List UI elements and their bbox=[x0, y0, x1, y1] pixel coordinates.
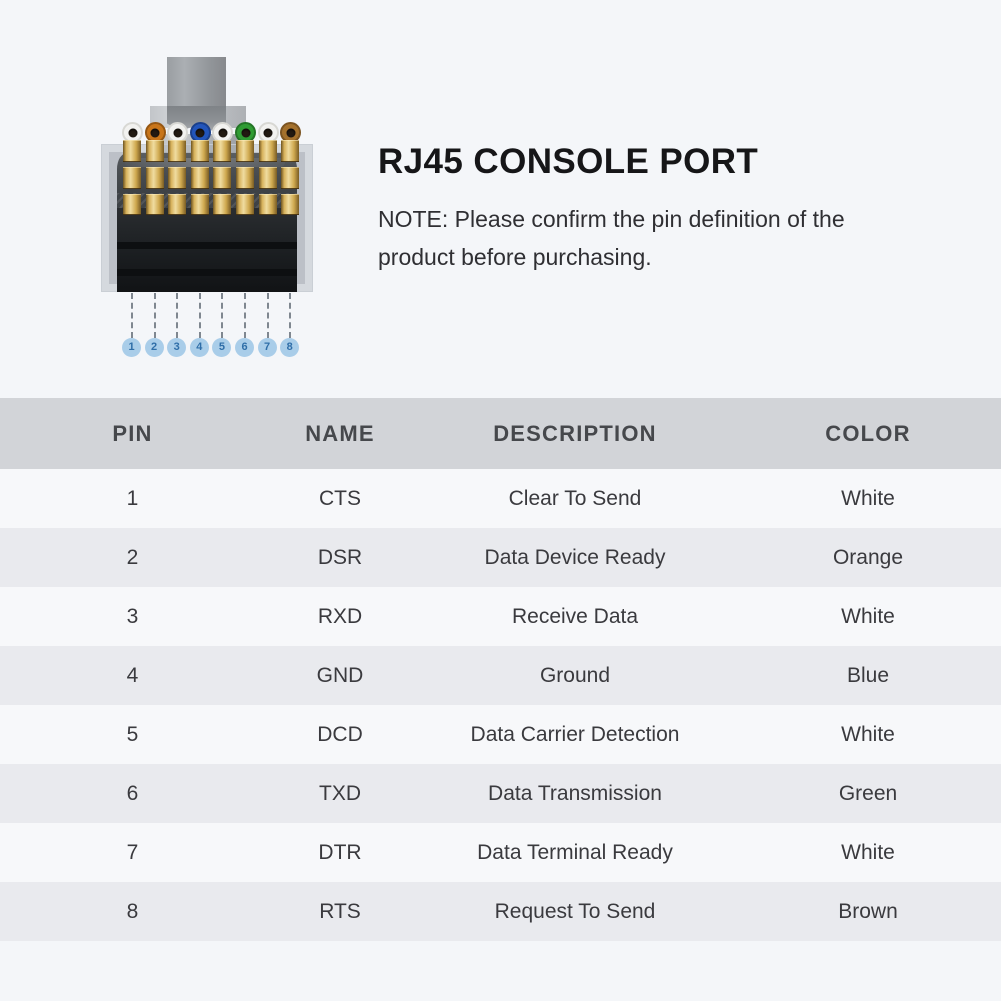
rj45-connector-illustration: 12345678 bbox=[95, 50, 320, 370]
contact-divider-bar-1 bbox=[117, 242, 297, 249]
color-cell: White bbox=[735, 705, 1001, 764]
name-cell: DCD bbox=[265, 705, 415, 764]
contact-divider-bar-2 bbox=[117, 269, 297, 276]
name-cell: TXD bbox=[265, 764, 415, 823]
pin-segment bbox=[191, 140, 209, 162]
description-cell: Data Device Ready bbox=[415, 528, 735, 587]
description-cell: Data Terminal Ready bbox=[415, 823, 735, 882]
pin-cell: 5 bbox=[0, 705, 265, 764]
table-row: 3RXDReceive DataWhite bbox=[0, 587, 1001, 646]
column-header-pin: PIN bbox=[0, 398, 265, 469]
pin-segment bbox=[146, 167, 164, 189]
color-cell: Brown bbox=[735, 882, 1001, 941]
color-cell: Green bbox=[735, 764, 1001, 823]
pin-number-badge-4: 4 bbox=[190, 338, 209, 357]
wire-core-icon bbox=[173, 128, 182, 137]
table-body: 1CTSClear To SendWhite2DSRData Device Re… bbox=[0, 469, 1001, 941]
pin-segment bbox=[259, 194, 277, 215]
pin-segment bbox=[168, 167, 186, 189]
color-cell: White bbox=[735, 469, 1001, 528]
page-title: RJ45 CONSOLE PORT bbox=[378, 140, 938, 184]
name-cell: GND bbox=[265, 646, 415, 705]
pin-segment bbox=[168, 140, 186, 162]
contact-bed bbox=[117, 208, 297, 292]
pin-segment bbox=[146, 194, 164, 215]
pin-segment bbox=[236, 167, 254, 189]
gold-contact-pin-3 bbox=[168, 140, 186, 215]
table-row: 1CTSClear To SendWhite bbox=[0, 469, 1001, 528]
gold-contact-pin-6 bbox=[236, 140, 254, 215]
wire-core-icon bbox=[286, 128, 295, 137]
pin-segment bbox=[123, 194, 141, 215]
pin-definition-table: PIN NAME DESCRIPTION COLOR 1CTSClear To … bbox=[0, 398, 1001, 941]
gold-contact-pin-5 bbox=[213, 140, 231, 215]
pin-number-badge-3: 3 bbox=[167, 338, 186, 357]
pin-segment bbox=[123, 140, 141, 162]
wire-core-icon bbox=[264, 128, 273, 137]
leader-line-pin-1 bbox=[131, 293, 133, 338]
description-cell: Request To Send bbox=[415, 882, 735, 941]
table-row: 2DSRData Device ReadyOrange bbox=[0, 528, 1001, 587]
table-row: 5DCDData Carrier DetectionWhite bbox=[0, 705, 1001, 764]
pin-segment bbox=[259, 140, 277, 162]
table-row: 7DTRData Terminal ReadyWhite bbox=[0, 823, 1001, 882]
wire-core-icon bbox=[151, 128, 160, 137]
description-cell: Receive Data bbox=[415, 587, 735, 646]
pin-number-badge-2: 2 bbox=[145, 338, 164, 357]
pin-segment bbox=[281, 140, 299, 162]
description-cell: Data Carrier Detection bbox=[415, 705, 735, 764]
gold-contact-pin-4 bbox=[191, 140, 209, 215]
pin-segment bbox=[168, 194, 186, 215]
leader-line-pin-5 bbox=[221, 293, 223, 338]
wire-core-icon bbox=[128, 128, 137, 137]
description-cell: Data Transmission bbox=[415, 764, 735, 823]
leader-line-pin-3 bbox=[176, 293, 178, 338]
wire-core-icon bbox=[241, 128, 250, 137]
table-header-row: PIN NAME DESCRIPTION COLOR bbox=[0, 398, 1001, 469]
table-header: PIN NAME DESCRIPTION COLOR bbox=[0, 398, 1001, 469]
pin-segment bbox=[281, 167, 299, 189]
wire-core-icon bbox=[196, 128, 205, 137]
pin-segment bbox=[236, 194, 254, 215]
pin-cell: 8 bbox=[0, 882, 265, 941]
name-cell: DTR bbox=[265, 823, 415, 882]
pin-cell: 7 bbox=[0, 823, 265, 882]
leader-line-pin-8 bbox=[289, 293, 291, 338]
name-cell: DSR bbox=[265, 528, 415, 587]
leader-line-pin-4 bbox=[199, 293, 201, 338]
page-note: NOTE: Please confirm the pin definition … bbox=[378, 200, 878, 276]
name-cell: CTS bbox=[265, 469, 415, 528]
header-section: 12345678 RJ45 CONSOLE PORT NOTE: Please … bbox=[0, 0, 1001, 392]
pin-number-badge-8: 8 bbox=[280, 338, 299, 357]
table-row: 6TXDData TransmissionGreen bbox=[0, 764, 1001, 823]
cable-boot-top bbox=[167, 57, 226, 109]
pin-number-badge-1: 1 bbox=[122, 338, 141, 357]
color-cell: Blue bbox=[735, 646, 1001, 705]
column-header-name: NAME bbox=[265, 398, 415, 469]
pin-number-badge-7: 7 bbox=[258, 338, 277, 357]
column-header-color: COLOR bbox=[735, 398, 1001, 469]
pin-segment bbox=[213, 194, 231, 215]
pin-cell: 4 bbox=[0, 646, 265, 705]
pin-segment bbox=[213, 140, 231, 162]
pin-segment bbox=[146, 140, 164, 162]
gold-contact-pin-2 bbox=[146, 140, 164, 215]
pin-cell: 3 bbox=[0, 587, 265, 646]
description-cell: Ground bbox=[415, 646, 735, 705]
pin-cell: 2 bbox=[0, 528, 265, 587]
color-cell: White bbox=[735, 587, 1001, 646]
name-cell: RXD bbox=[265, 587, 415, 646]
pin-cell: 1 bbox=[0, 469, 265, 528]
pin-segment bbox=[259, 167, 277, 189]
color-cell: Orange bbox=[735, 528, 1001, 587]
table-row: 4GNDGroundBlue bbox=[0, 646, 1001, 705]
pin-segment bbox=[236, 140, 254, 162]
leader-line-pin-7 bbox=[267, 293, 269, 338]
title-block: RJ45 CONSOLE PORT NOTE: Please confirm t… bbox=[378, 140, 938, 276]
color-cell: White bbox=[735, 823, 1001, 882]
pin-segment bbox=[281, 194, 299, 215]
pin-number-badge-6: 6 bbox=[235, 338, 254, 357]
column-header-description: DESCRIPTION bbox=[415, 398, 735, 469]
gold-contact-pin-7 bbox=[259, 140, 277, 215]
name-cell: RTS bbox=[265, 882, 415, 941]
gold-contact-pin-1 bbox=[123, 140, 141, 215]
pin-segment bbox=[191, 167, 209, 189]
pin-segment bbox=[213, 167, 231, 189]
pin-cell: 6 bbox=[0, 764, 265, 823]
wire-core-icon bbox=[218, 128, 227, 137]
gold-contact-pin-8 bbox=[281, 140, 299, 215]
leader-line-pin-2 bbox=[154, 293, 156, 338]
pin-segment bbox=[191, 194, 209, 215]
table-row: 8RTSRequest To SendBrown bbox=[0, 882, 1001, 941]
description-cell: Clear To Send bbox=[415, 469, 735, 528]
pin-segment bbox=[123, 167, 141, 189]
pin-number-badge-5: 5 bbox=[212, 338, 231, 357]
leader-line-pin-6 bbox=[244, 293, 246, 338]
